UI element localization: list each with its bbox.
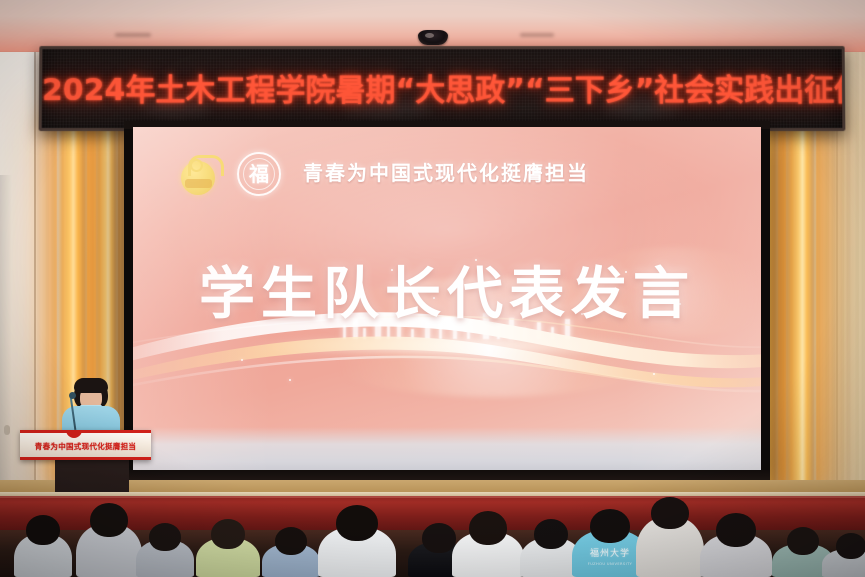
audience-head: [469, 511, 507, 545]
speaker-person: [58, 378, 124, 438]
audience-member: [636, 497, 704, 577]
audience-member: [14, 515, 72, 577]
shirt-print-subtext: FUZHOU UNIVERSITY: [588, 562, 633, 566]
slide-title: 学生队长代表发言: [133, 249, 761, 330]
audience-head: [716, 513, 756, 547]
audience-head: [211, 519, 245, 549]
led-banner: 2024年土木工程学院暑期“大思政”“三下乡”社会实践出征仪式: [39, 46, 846, 131]
ceiling-reflection-right: [520, 33, 554, 37]
audience-head: [336, 505, 378, 541]
audience-head: [275, 527, 307, 555]
slide-subtitle: 青春为中国式现代化挺膺担当: [303, 157, 589, 186]
audience-member: [76, 503, 142, 577]
led-banner-text: 2024年土木工程学院暑期“大思政”“三下乡”社会实践出征仪式: [42, 65, 842, 109]
audience-member: [452, 511, 524, 577]
audience-member: [700, 513, 772, 577]
audience-member: [822, 533, 865, 577]
projected-slide: 福 青春为中国式现代化挺膺担当 学生队长代表发言: [133, 127, 761, 470]
door-knob-icon: [4, 425, 10, 435]
communist-youth-league-emblem-icon: [177, 153, 223, 195]
audience-head: [149, 523, 181, 551]
audience-head: [590, 509, 630, 543]
audience-head: [422, 523, 456, 553]
audience-head: [90, 503, 128, 537]
projection-screen-frame: 福 青春为中国式现代化挺膺担当 学生队长代表发言: [124, 121, 770, 484]
audience-member: [196, 519, 260, 577]
lecture-hall-photo: 2024年土木工程学院暑期“大思政”“三下乡”社会实践出征仪式: [0, 0, 865, 577]
ceiling-dome-camera-icon: [418, 30, 448, 45]
national-emblem-icon: [66, 430, 82, 438]
podium-sign-text: 青春为中国式现代化挺膺担当: [20, 441, 151, 452]
slide-logo-group: 福: [177, 152, 281, 196]
audience-group: 福州大学FUZHOU UNIVERSITY: [0, 460, 865, 577]
audience-head: [534, 519, 568, 549]
shirt-print-text: 福州大学: [590, 546, 630, 559]
ceiling-reflection-left: [115, 33, 151, 37]
audience-head: [836, 533, 865, 559]
audience-member: [318, 505, 396, 577]
audience-head: [26, 515, 60, 545]
audience-head: [651, 497, 689, 529]
fuzhou-university-fu-emblem-icon: 福: [237, 152, 281, 196]
audience-head: [787, 527, 819, 555]
audience-member: [136, 523, 194, 577]
podium-sign: 青春为中国式现代化挺膺担当: [20, 430, 151, 460]
microphone-icon: [69, 392, 76, 399]
audience-member: [262, 527, 320, 577]
side-door: [0, 175, 12, 505]
amber-light-strip-right: [786, 125, 816, 481]
